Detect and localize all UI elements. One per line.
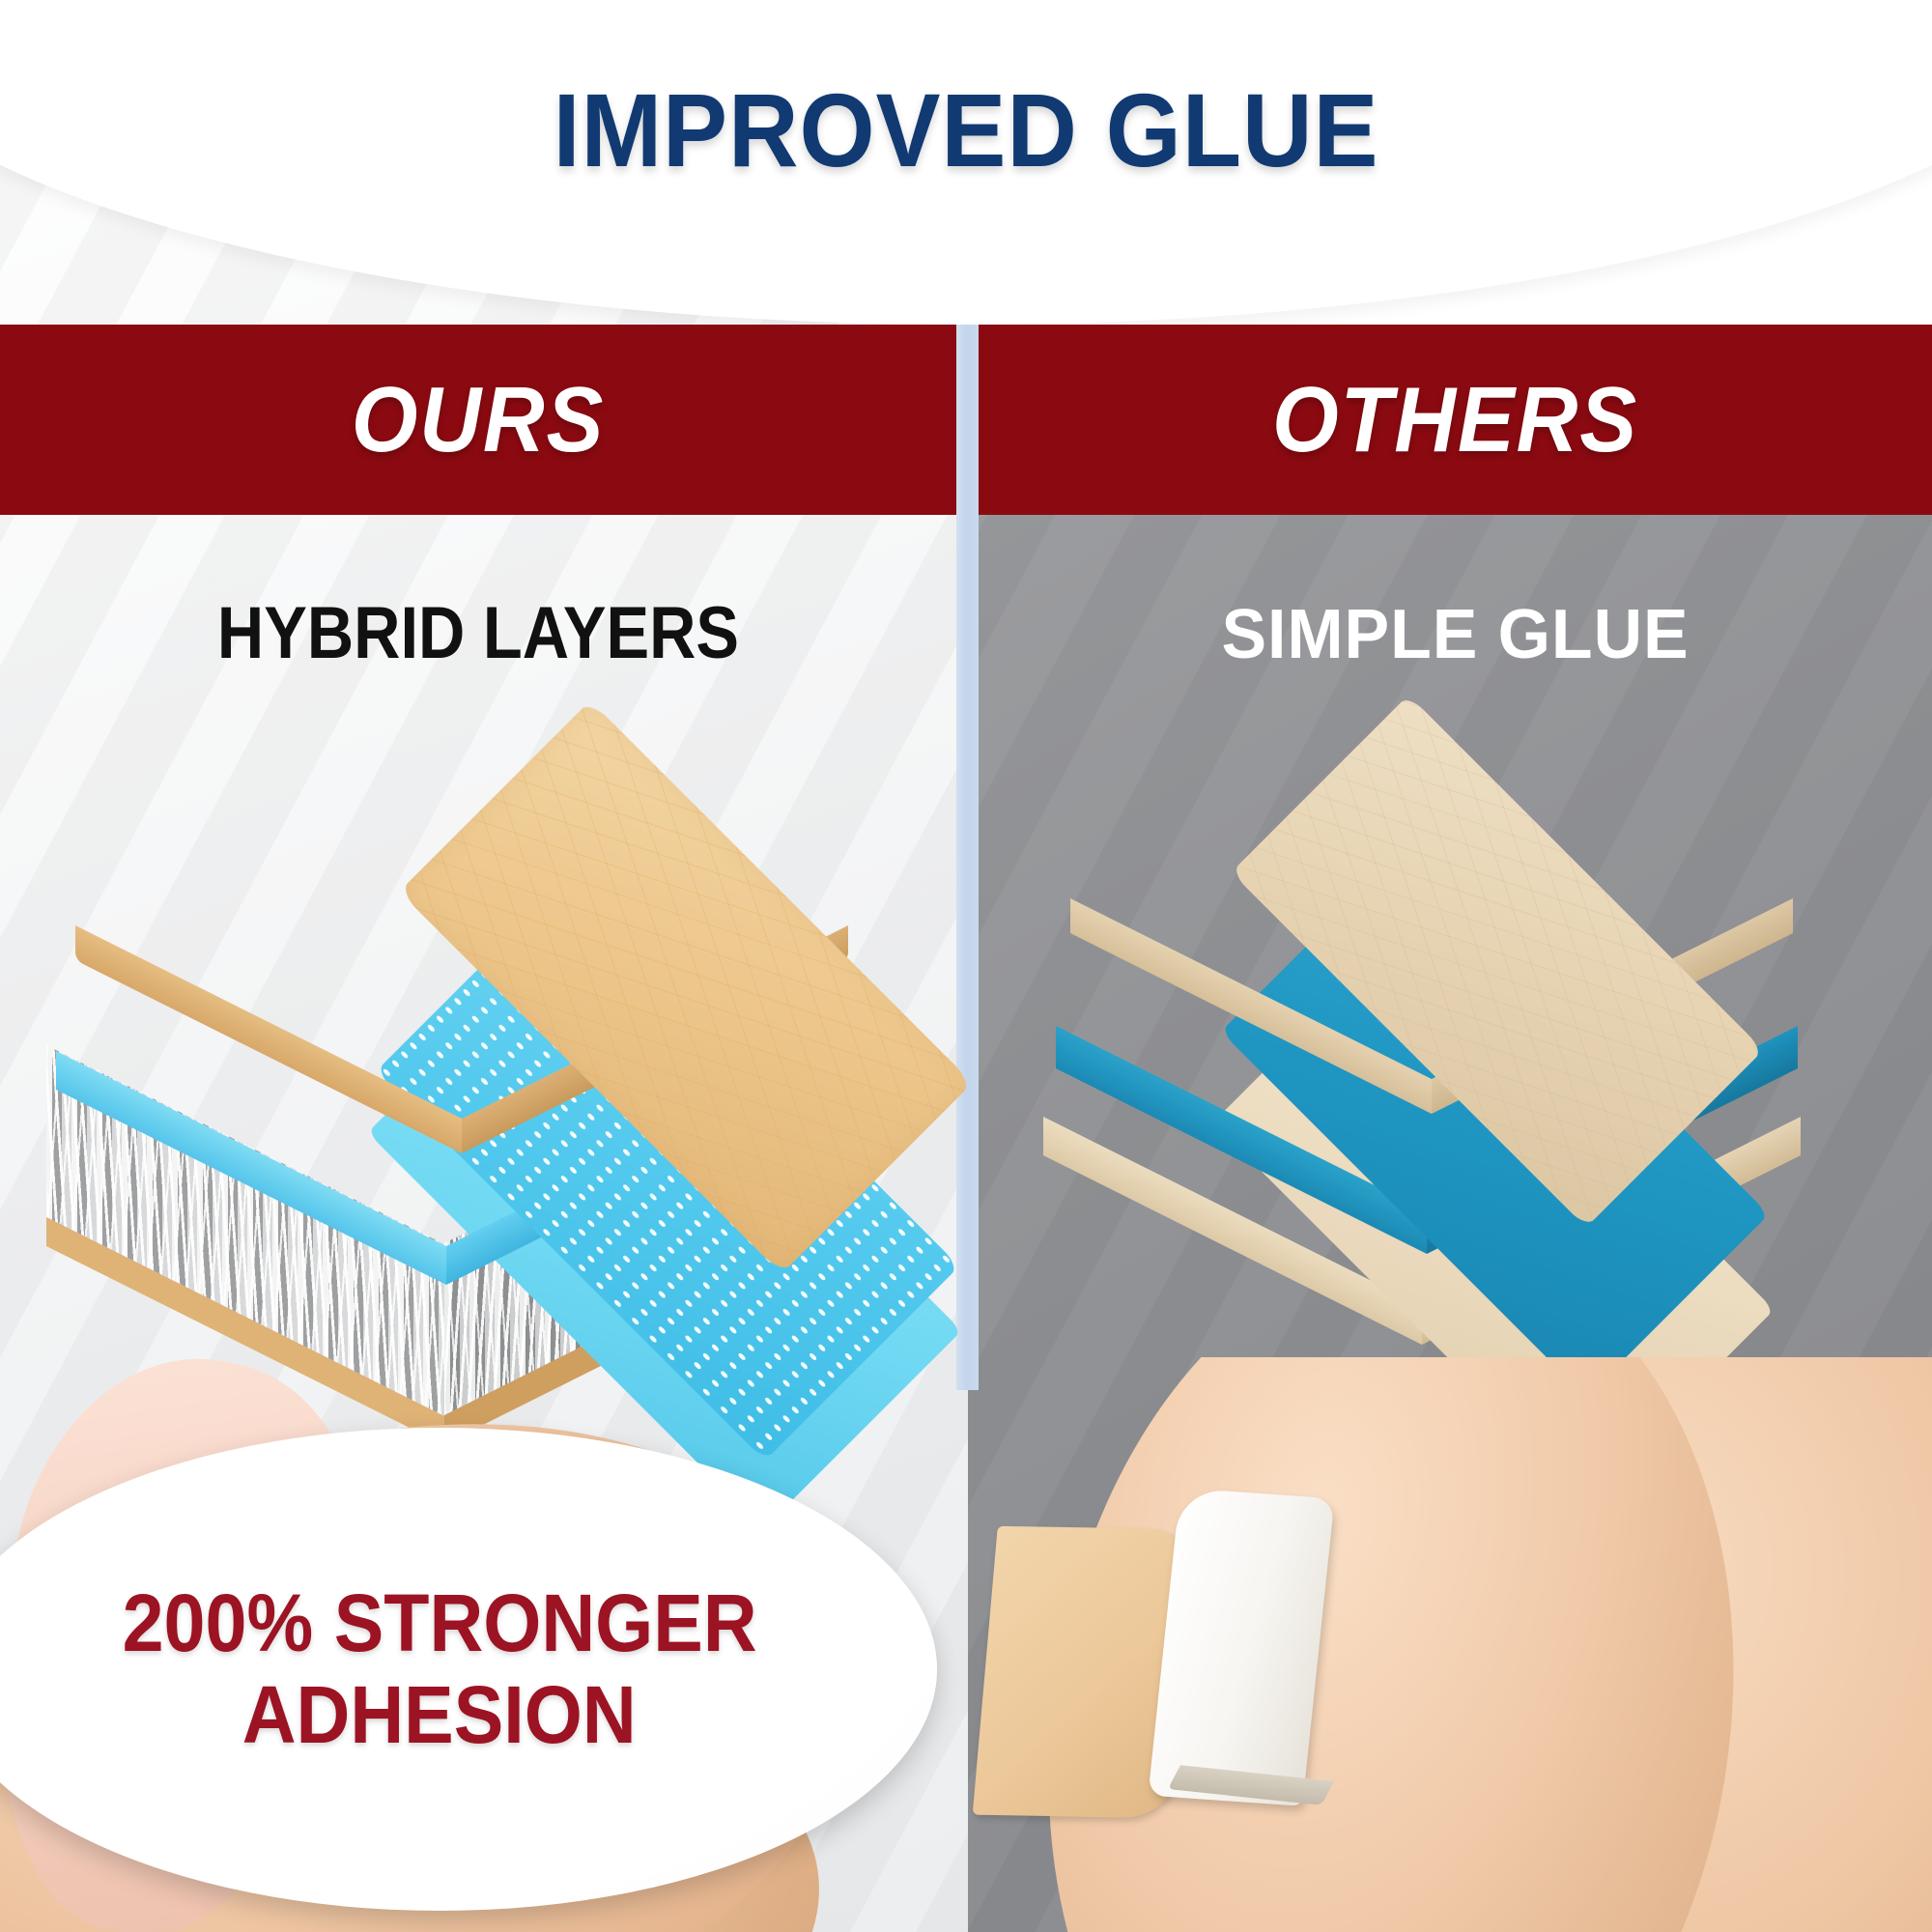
badge-line-1: 200% STRONGER bbox=[122, 1580, 756, 1666]
page-title: IMPROVED GLUE bbox=[68, 70, 1864, 190]
infographic-canvas: IMPROVED GLUE OURS OTHERS HYBRID LAYERS … bbox=[0, 0, 1932, 1932]
banner-ours: OURS bbox=[0, 325, 956, 515]
bandage-backing-liner bbox=[1148, 1488, 1334, 1805]
banner-ours-label: OURS bbox=[39, 325, 919, 515]
right-panel-heading: SIMPLE GLUE bbox=[993, 595, 1918, 674]
panel-divider bbox=[956, 325, 979, 1390]
left-panel-heading: HYBRID LAYERS bbox=[57, 591, 898, 675]
banner-others: OTHERS bbox=[979, 325, 1932, 515]
banner-others-label: OTHERS bbox=[1016, 325, 1893, 515]
badge-line-2: ADHESION bbox=[242, 1672, 637, 1758]
